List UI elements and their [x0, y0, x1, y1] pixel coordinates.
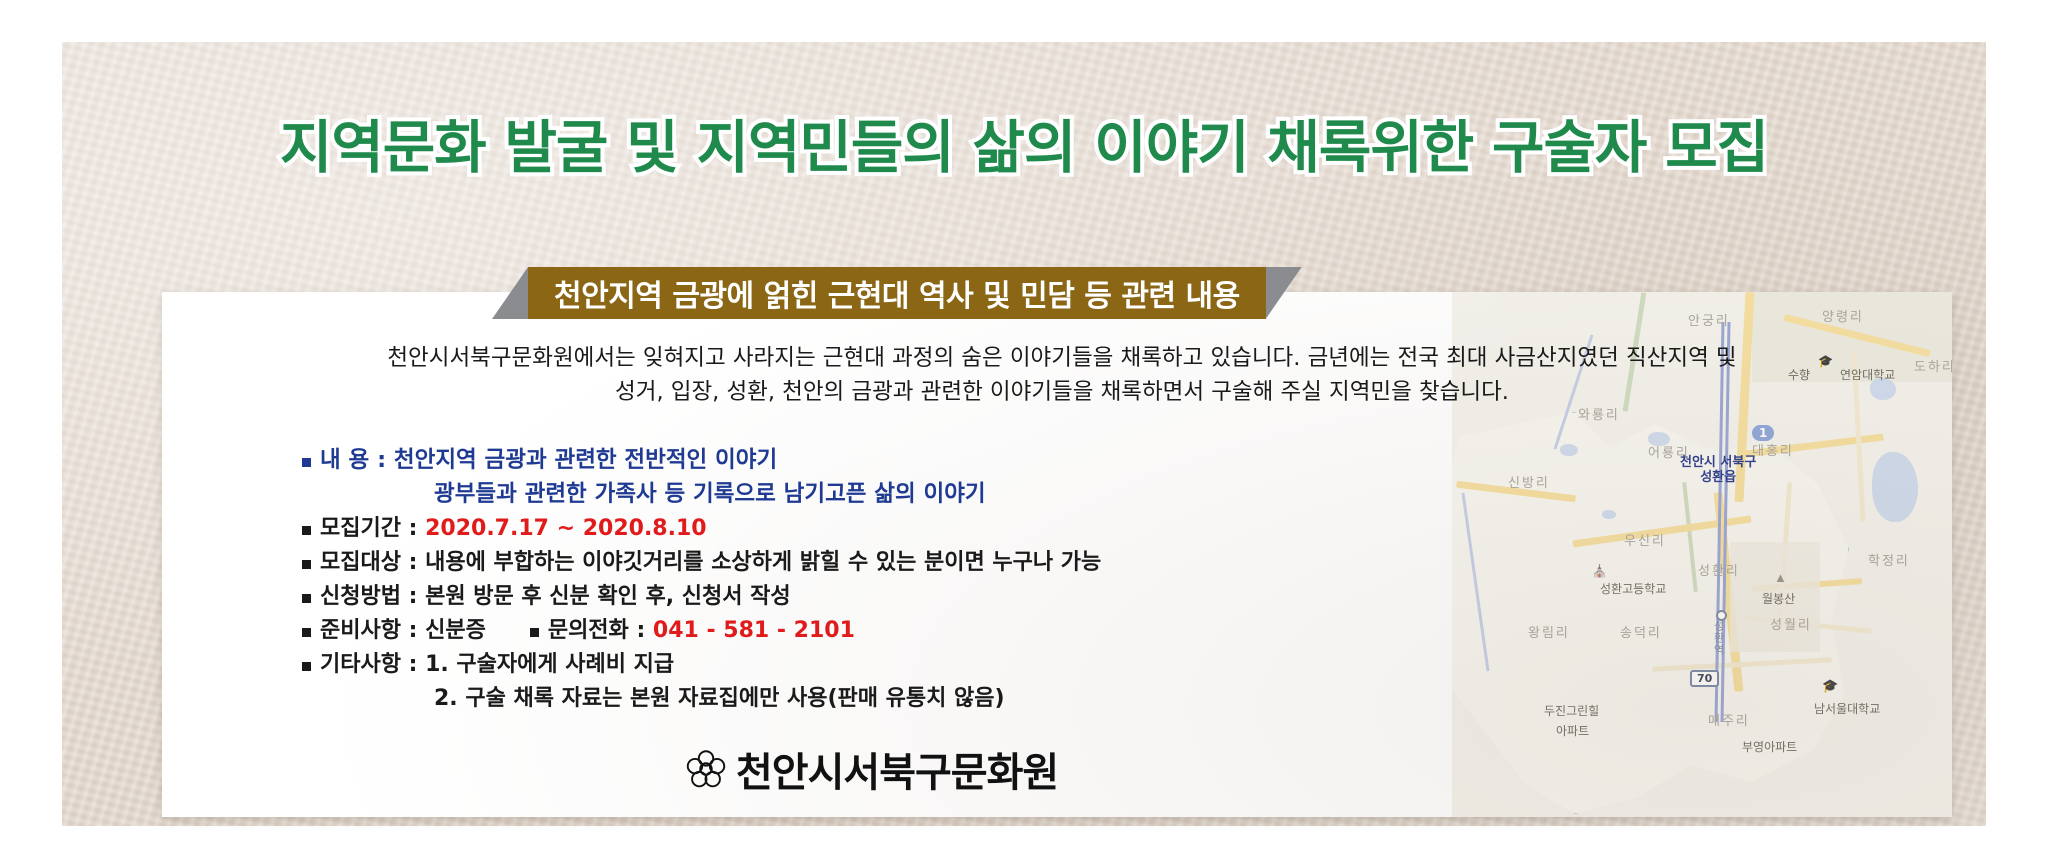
subtitle-ribbon-text: 천안지역 금광에 얽힌 근현대 역사 및 민담 등 관련 내용 — [528, 267, 1266, 319]
mountain-icon: ▲ — [1774, 570, 1787, 585]
list-item-value: 천안지역 금광과 관련한 전반적인 이야기 — [394, 447, 777, 473]
list-item-value: 2020.7.17 ~ 2020.8.10 — [425, 516, 707, 541]
map-label: 우신리 — [1624, 530, 1666, 549]
university-icon: 🎓 — [1822, 678, 1838, 694]
ribbon-tail-right — [1266, 267, 1302, 319]
bullet-square-icon — [302, 628, 311, 637]
content-card: 1 70 ⛪ ▲ 🎓 🎓 성환역 천안시 서북구 성환읍 안궁리양령리수향연암대… — [162, 292, 1952, 817]
list-item-label: 모집기간 : — [320, 516, 417, 541]
map-place-marker-line2: 성환읍 — [1680, 471, 1756, 486]
map-label: 안궁리 — [1688, 310, 1730, 329]
building-icon: ⛪ — [1592, 564, 1607, 578]
highway-number-box: 70 — [1690, 670, 1719, 687]
list-item-notes: 기타사항 : 1. 구술자에게 사례비 지급 — [302, 646, 1101, 678]
map-place-marker: 천안시 서북구 성환읍 — [1680, 456, 1756, 486]
ribbon-tail-left — [492, 267, 528, 319]
list-item-label: 내 용 : — [320, 447, 386, 473]
map-label: 두진그린힐 — [1544, 702, 1599, 719]
map-label: 성월리 — [1770, 614, 1812, 633]
list-item-method: 신청방법 : 본원 방문 후 신분 확인 후, 신청서 작성 — [302, 578, 1101, 610]
map-pond — [1602, 510, 1616, 519]
map-pond — [1560, 444, 1578, 456]
map-label: 어룡리 — [1648, 442, 1690, 461]
list-item-value: 본원 방문 후 신분 확인 후, 신청서 작성 — [425, 584, 791, 609]
map-label: 월봉산 — [1762, 590, 1795, 607]
list-item-label: 기타사항 : — [320, 652, 417, 677]
map-label: 부영아파트 — [1742, 738, 1797, 755]
map-label: 양령리 — [1822, 306, 1864, 325]
map-label: 성환고등학교 — [1600, 580, 1666, 597]
bullet-square-icon — [530, 628, 539, 637]
bullet-square-icon — [302, 662, 311, 671]
list-item-period: 모집기간 : 2020.7.17 ~ 2020.8.10 — [302, 510, 1101, 542]
map-place-marker-line1: 천안시 서북구 — [1680, 456, 1756, 471]
list-item-value: 2. 구술 채록 자료는 본원 자료집에만 사용(판매 유통치 않음) — [434, 680, 1005, 712]
bullet-square-icon — [302, 458, 311, 467]
details-list: 내 용 : 천안지역 금광과 관련한 전반적인 이야기 광부들과 관련한 가족사… — [302, 442, 1101, 714]
list-item-notes-second-line: 2. 구술 채록 자료는 본원 자료집에만 사용(판매 유통치 않음) — [302, 680, 1101, 712]
list-item-content: 내 용 : 천안지역 금광과 관련한 전반적인 이야기 — [302, 442, 1101, 474]
organization-name: 천안시서북구문화원 — [736, 740, 1058, 798]
map-label: 매주리 — [1708, 710, 1750, 729]
list-item-content-second-line: 광부들과 관련한 가족사 등 기록으로 남기고픈 삶의 이야기 — [302, 476, 1101, 508]
flower-emblem-icon — [682, 745, 730, 793]
list-item-value: 광부들과 관련한 가족사 등 기록으로 남기고픈 삶의 이야기 — [434, 476, 986, 508]
bullet-square-icon — [302, 526, 311, 535]
intro-line-1: 천안시서북구문화원에서는 잊혀지고 사라지는 근현대 과정의 숨은 이야기들을 … — [387, 345, 1736, 371]
list-item-requirements: 준비사항 : 신분증 문의전화 : 041 - 581 - 2101 — [302, 612, 1101, 644]
page-title: 지역문화 발굴 및 지역민들의 삶의 이야기 채록위한 구술자 모집 — [62, 102, 1986, 184]
map-label: 성환리 — [1698, 560, 1740, 579]
map-label: 송덕리 — [1620, 622, 1662, 641]
bullet-square-icon — [302, 560, 311, 569]
map-lake — [1872, 452, 1918, 522]
map-label: 도하리 — [1914, 356, 1952, 375]
list-item-value: 1. 구술자에게 사례비 지급 — [425, 652, 674, 677]
list-item-value: 내용에 부합하는 이야깃거리를 소상하게 밝힐 수 있는 분이면 누구나 가능 — [425, 550, 1101, 575]
highway-shield-icon: 1 — [1752, 425, 1774, 441]
phone-number: 041 - 581 - 2101 — [653, 618, 855, 643]
list-item-label: 모집대상 : — [320, 550, 417, 575]
organization-logo: 천안시서북구문화원 — [682, 740, 1058, 798]
poster-background: 지역문화 발굴 및 지역민들의 삶의 이야기 채록위한 구술자 모집 천안지역 … — [62, 42, 1986, 826]
intro-paragraph: 천안시서북구문화원에서는 잊혀지고 사라지는 근현대 과정의 숨은 이야기들을 … — [222, 342, 1902, 410]
list-item-target: 모집대상 : 내용에 부합하는 이야깃거리를 소상하게 밝힐 수 있는 분이면 … — [302, 544, 1101, 576]
map-label: 남서울대학교 — [1814, 700, 1880, 717]
station-label: 성환역 — [1710, 620, 1726, 656]
map-label: 대홍리 — [1752, 440, 1794, 459]
map-label: 학정리 — [1868, 550, 1910, 569]
map-label: 왕림리 — [1528, 622, 1570, 641]
list-item-label: 신청방법 : — [320, 584, 417, 609]
list-item-label: 문의전화 : — [548, 618, 645, 643]
intro-line-2: 성거, 입장, 성환, 천안의 금광과 관련한 이야기들을 채록하면서 구술해 … — [222, 376, 1902, 410]
list-item-label: 준비사항 : — [320, 618, 417, 643]
bullet-square-icon — [302, 594, 311, 603]
list-item-value: 신분증 — [425, 618, 486, 643]
subtitle-ribbon: 천안지역 금광에 얽힌 근현대 역사 및 민담 등 관련 내용 — [492, 267, 1302, 319]
map-label: 아파트 — [1556, 722, 1589, 739]
map-label: 신방리 — [1508, 472, 1550, 491]
